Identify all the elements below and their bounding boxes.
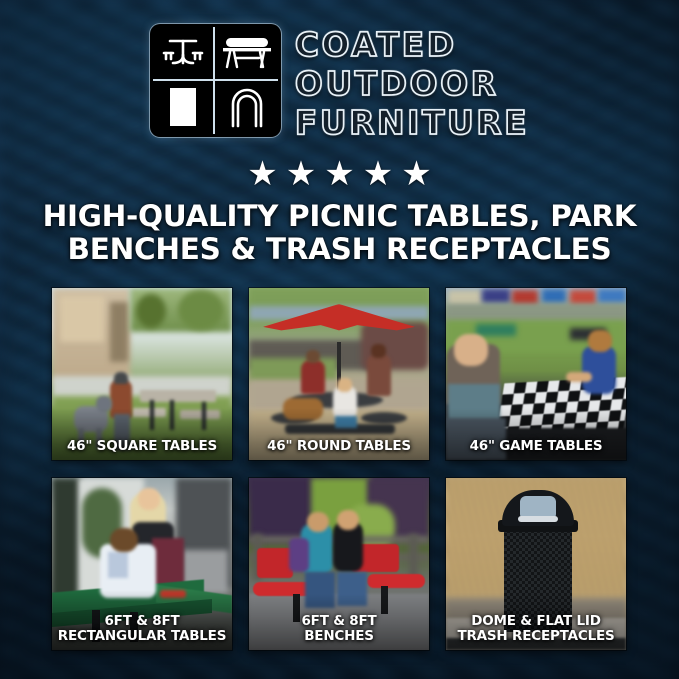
logo-word-furniture: FURNITURE	[295, 104, 529, 142]
caption-line: 46" GAME TABLES	[448, 439, 624, 454]
bench-table-side-icon	[215, 27, 278, 81]
caption-line: DOME & FLAT LID	[448, 614, 624, 629]
product-grid: 46" SQUARE TABLES	[52, 288, 627, 650]
caption-line: BENCHES	[251, 629, 427, 644]
logo-wordmark: COATED OUTDOOR FURNITURE	[295, 24, 529, 142]
caption-line: 46" SQUARE TABLES	[54, 439, 230, 454]
headline: HIGH-QUALITY PICNIC TABLES, PARK BENCHES…	[26, 200, 653, 266]
star-rating: ★ ★ ★ ★ ★	[0, 157, 679, 191]
caption-line: 6FT & 8FT	[251, 614, 427, 629]
product-tile-square-tables[interactable]: 46" SQUARE TABLES	[52, 288, 232, 460]
brand-logo: COATED OUTDOOR FURNITURE	[0, 24, 679, 142]
product-tile-game-tables[interactable]: 46" GAME TABLES	[446, 288, 626, 460]
caption-line: 6FT & 8FT	[54, 614, 230, 629]
product-caption-square-tables: 46" SQUARE TABLES	[54, 439, 230, 454]
product-tile-rectangular-tables[interactable]: 6FT & 8FT RECTANGULAR TABLES	[52, 478, 232, 650]
product-photo-round-tables	[249, 288, 429, 460]
star-icon-5: ★	[401, 157, 431, 191]
logo-word-outdoor: OUTDOOR	[295, 65, 499, 103]
product-photo-game-tables	[446, 288, 626, 460]
product-caption-rectangular-tables: 6FT & 8FT RECTANGULAR TABLES	[54, 614, 230, 644]
logo-word-coated: COATED	[295, 26, 457, 64]
product-caption-round-tables: 46" ROUND TABLES	[251, 439, 427, 454]
product-tile-trash-receptacles[interactable]: DOME & FLAT LID TRASH RECEPTACLES	[446, 478, 626, 650]
caption-line: RECTANGULAR TABLES	[54, 629, 230, 644]
product-tile-round-tables[interactable]: 46" ROUND TABLES	[249, 288, 429, 460]
product-caption-benches: 6FT & 8FT BENCHES	[251, 614, 427, 644]
promotional-banner: COATED OUTDOOR FURNITURE ★ ★ ★ ★ ★ HIGH-…	[0, 0, 679, 679]
product-photo-square-tables	[52, 288, 232, 460]
product-tile-benches[interactable]: 6FT & 8FT BENCHES	[249, 478, 429, 650]
star-icon-1: ★	[247, 157, 277, 191]
star-icon-4: ★	[363, 157, 393, 191]
product-caption-game-tables: 46" GAME TABLES	[448, 439, 624, 454]
caption-line: 46" ROUND TABLES	[251, 439, 427, 454]
star-icon-2: ★	[286, 157, 316, 191]
logo-icon-grid	[150, 24, 281, 137]
caption-line: TRASH RECEPTACLES	[448, 629, 624, 644]
star-icon-3: ★	[324, 157, 354, 191]
product-caption-trash-receptacles: DOME & FLAT LID TRASH RECEPTACLES	[448, 614, 624, 644]
headline-line-1: HIGH-QUALITY PICNIC TABLES, PARK	[43, 199, 637, 233]
arch-bike-rack-icon	[215, 81, 278, 135]
trash-receptacle-icon	[153, 81, 216, 135]
headline-line-2: BENCHES & TRASH RECEPTACLES	[26, 233, 653, 266]
picnic-table-front-icon	[153, 27, 216, 81]
